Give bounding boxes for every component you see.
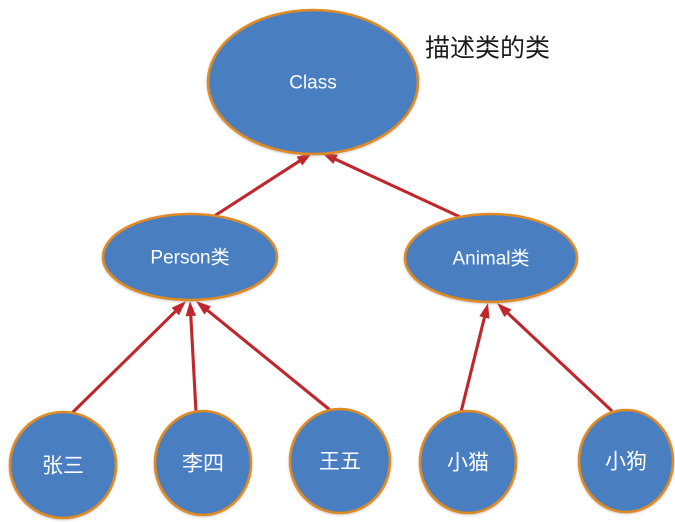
node-label-xiaomao: 小猫	[447, 452, 489, 475]
node-person[interactable]: Person类	[103, 214, 277, 300]
node-label-lisi: 李四	[182, 453, 224, 476]
diagram-canvas: ClassPerson类Animal类张三李四王五小猫小狗 描述类的类	[0, 0, 675, 522]
node-label-zhangsan: 张三	[42, 455, 84, 478]
node-label-class: Class	[289, 73, 337, 94]
class-hierarchy-diagram: ClassPerson类Animal类张三李四王五小猫小狗 描述类的类	[0, 0, 675, 522]
node-xiaogou[interactable]: 小狗	[579, 410, 673, 512]
node-label-xiaogou: 小狗	[605, 451, 647, 474]
node-label-animal: Animal类	[452, 248, 529, 270]
node-class[interactable]: Class	[208, 10, 418, 154]
node-label-wangwu: 王五	[319, 451, 361, 474]
node-wangwu[interactable]: 王五	[290, 409, 390, 513]
annotation-describes-class: 描述类的类	[425, 34, 550, 63]
node-lisi[interactable]: 李四	[155, 411, 251, 515]
node-xiaomao[interactable]: 小猫	[420, 411, 516, 513]
node-label-person: Person类	[150, 247, 229, 269]
node-animal[interactable]: Animal类	[405, 214, 577, 302]
node-zhangsan[interactable]: 张三	[10, 412, 116, 518]
